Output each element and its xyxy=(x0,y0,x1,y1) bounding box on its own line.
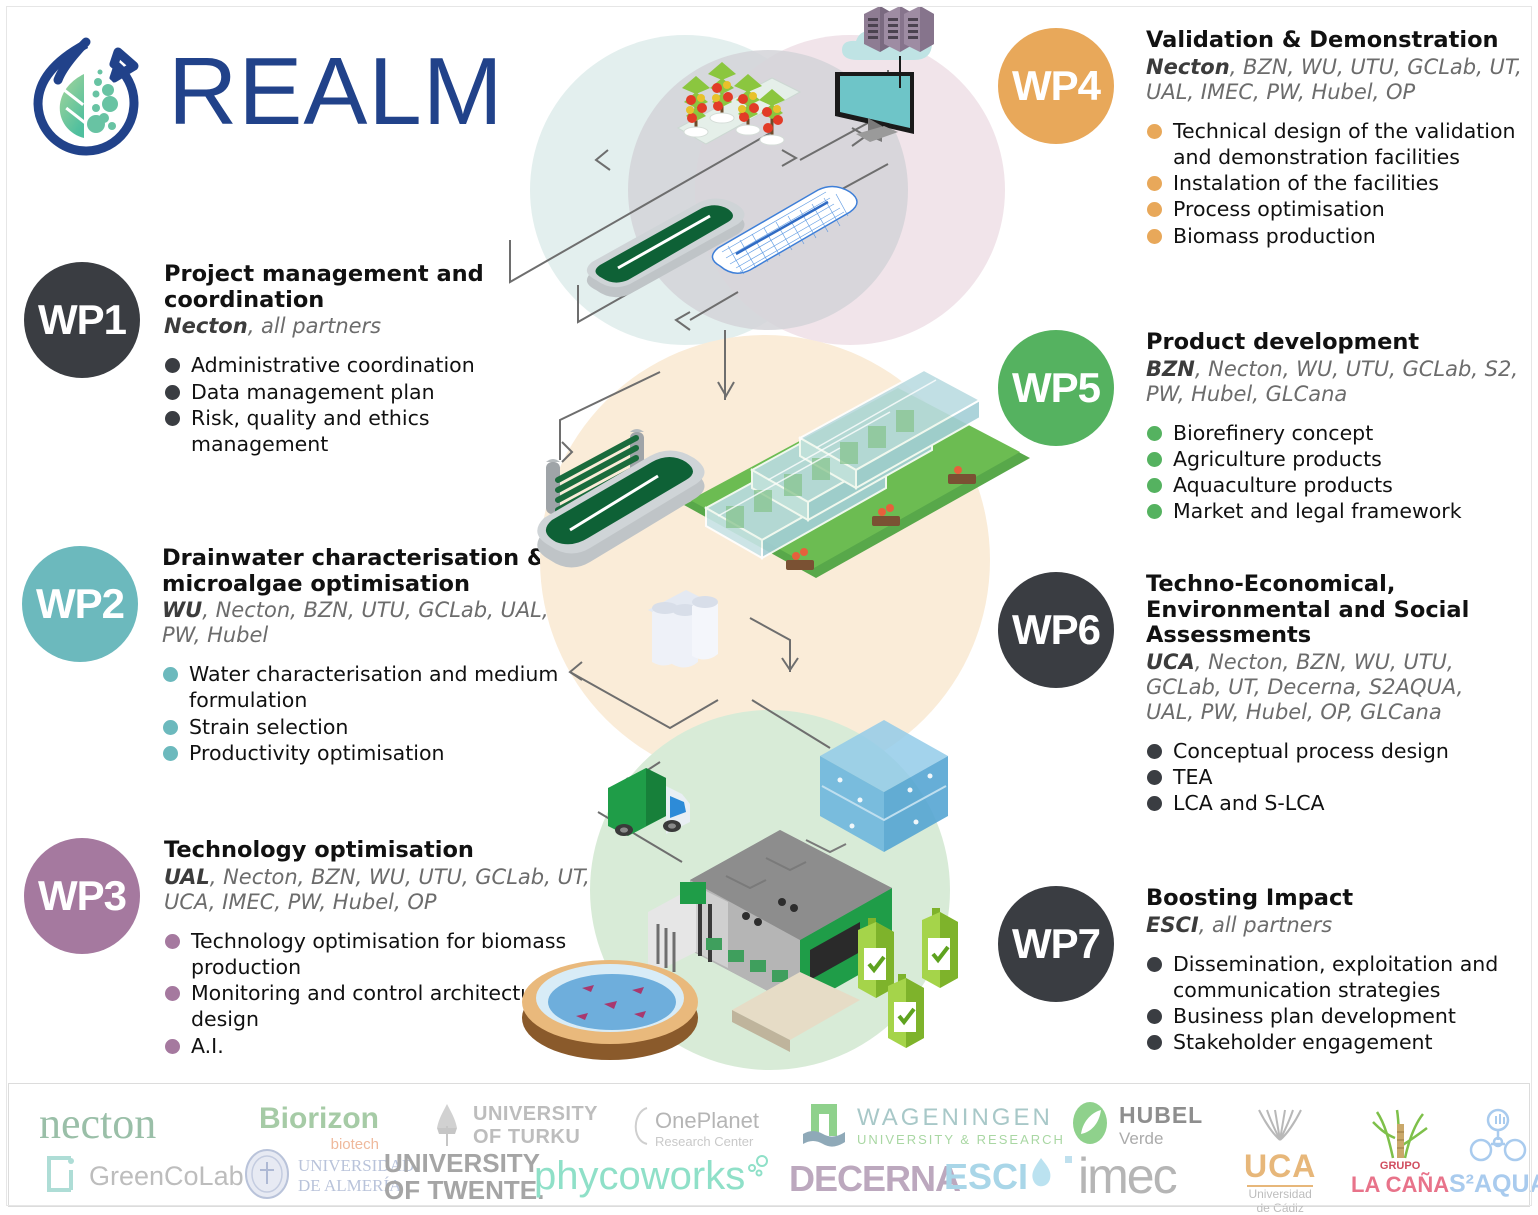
wp4-title: Validation & Demonstration xyxy=(1146,28,1526,54)
process-flow-illustration xyxy=(500,0,1040,1075)
wp5-task-list: Biorefinery concept Agriculture products… xyxy=(1146,420,1531,525)
list-item: Administrative coordination xyxy=(164,352,544,378)
list-item: Data management plan xyxy=(164,379,544,405)
wp1-partners: Necton, all partners xyxy=(164,314,544,339)
almeria-seal-icon xyxy=(242,1148,292,1204)
wp1-task-list: Administrative coordination Data managem… xyxy=(164,352,544,457)
imec-dot-icon xyxy=(1064,1154,1074,1192)
wp5-partners: BZN, Necton, WU, UTU, GCLab, S2, PW, Hub… xyxy=(1146,357,1531,407)
list-item: Aquaculture products xyxy=(1146,472,1531,498)
wp1-badge: WP1 xyxy=(24,262,140,378)
list-item: LCA and S-LCA xyxy=(1146,790,1506,816)
turku-crest-icon xyxy=(429,1100,465,1152)
wp7-task-list: Dissemination, exploitation and communic… xyxy=(1146,951,1526,1056)
wageningen-mark-icon xyxy=(799,1098,849,1152)
wp6-partners: UCA, Necton, BZN, WU, UTU, GCLab, UT, De… xyxy=(1146,650,1506,725)
server-rack-icon xyxy=(842,6,934,60)
logo-university-of-turku: UNIVERSITY OF TURKU xyxy=(429,1100,598,1152)
logo-decerna: DECERNA xyxy=(789,1158,960,1200)
wp2-partner-list: , Necton, BZN, UTU, GCLab, UAL, PW, Hube… xyxy=(162,598,549,647)
list-item: Biomass production xyxy=(1146,223,1526,249)
realm-logo: REALM xyxy=(18,22,488,162)
wp3-badge: WP3 xyxy=(24,838,140,954)
wp4-task-list: Technical design of the validation and d… xyxy=(1146,118,1526,249)
wp5-partner-list: , Necton, WU, UTU, GCLab, S2, PW, Hubel,… xyxy=(1146,357,1518,406)
list-item: Biorefinery concept xyxy=(1146,420,1531,446)
wp7-partners: ESCI, all partners xyxy=(1146,913,1526,938)
brand-name: REALM xyxy=(168,44,504,140)
list-item: Instalation of the facilities xyxy=(1146,170,1526,196)
sugarcane-icon xyxy=(1363,1106,1437,1164)
list-item: Conceptual process design xyxy=(1146,738,1506,764)
list-item: Dissemination, exploitation and communic… xyxy=(1146,951,1526,1003)
list-item: Process optimisation xyxy=(1146,196,1526,222)
logo-phycoworks: phycoworks xyxy=(534,1154,771,1199)
logo-s2aqua: S²AQUA xyxy=(1449,1108,1538,1199)
logo-uca-universidad-de-cadiz: UCA Universidad de Cádiz xyxy=(1244,1106,1316,1215)
wp3-lead: UAL xyxy=(164,865,210,889)
logo-necton: necton xyxy=(39,1098,156,1149)
wp4-partners: Necton, BZN, WU, UTU, GCLab, UT, UAL, IM… xyxy=(1146,55,1526,105)
list-item: Agriculture products xyxy=(1146,446,1531,472)
hubel-leaf-icon xyxy=(1069,1100,1111,1150)
list-item: Risk, quality and ethics management xyxy=(164,405,544,457)
logo-biorizon: Biorizon biotech xyxy=(259,1102,379,1153)
oneplanet-arc-icon xyxy=(629,1104,651,1152)
wp7-lead: ESCI xyxy=(1146,913,1199,937)
list-item: Technical design of the validation and d… xyxy=(1146,118,1526,170)
logo-greencolab: GreenCoLab xyxy=(39,1152,244,1200)
list-item: Market and legal framework xyxy=(1146,498,1531,524)
fish-pond-icon xyxy=(522,960,698,1060)
phycoworks-bubbles-icon xyxy=(745,1154,771,1184)
wp4-lead: Necton xyxy=(1146,55,1230,79)
wp5-lead: BZN xyxy=(1146,357,1195,381)
list-item: TEA xyxy=(1146,764,1506,790)
uca-crest-icon xyxy=(1253,1106,1307,1148)
logo-hubel-verde: HUBEL Verde xyxy=(1069,1100,1203,1150)
logo-imec: imec xyxy=(1064,1154,1176,1199)
logo-oneplanet: OnePlanet Research Center xyxy=(629,1104,759,1152)
leaf-droplet-icon xyxy=(18,24,154,160)
logo-wageningen: WAGENINGEN UNIVERSITY & RESEARCH xyxy=(799,1098,1065,1152)
wp2-badge: WP2 xyxy=(22,546,138,662)
esci-drop-icon xyxy=(1028,1156,1054,1194)
greencolab-bracket-icon xyxy=(39,1152,79,1200)
list-item: Business plan development xyxy=(1146,1003,1526,1029)
wp7-partner-list: , all partners xyxy=(1199,913,1332,937)
wp6-task-list: Conceptual process design TEA LCA and S-… xyxy=(1146,738,1506,817)
wp6-title: Techno-Economical, Environmental and Soc… xyxy=(1146,572,1506,649)
wp7-title: Boosting Impact xyxy=(1146,886,1526,912)
partner-logos-footer: necton Biorizon biotech UNIVERSITY OF TU… xyxy=(8,1083,1530,1207)
wp1-title: Project management and coordination xyxy=(164,262,544,313)
wp1-lead: Necton xyxy=(164,314,248,338)
logo-esci: ESCI xyxy=(944,1156,1054,1198)
list-item: Stakeholder engagement xyxy=(1146,1029,1526,1055)
s2aqua-molecule-icon xyxy=(1467,1108,1529,1170)
logo-university-of-twente: UNIVERSITY OF TWENTE. xyxy=(384,1150,544,1205)
logo-grupo-la-cana: GRUPO LA CAÑA xyxy=(1351,1106,1449,1198)
wp6-lead: UCA xyxy=(1146,650,1195,674)
wp5-title: Product development xyxy=(1146,330,1531,356)
infographic-page: REALM WP1 Project management and coordin… xyxy=(0,0,1538,1212)
wp2-lead: WU xyxy=(162,598,202,622)
wp1-partner-list: , all partners xyxy=(248,314,381,338)
